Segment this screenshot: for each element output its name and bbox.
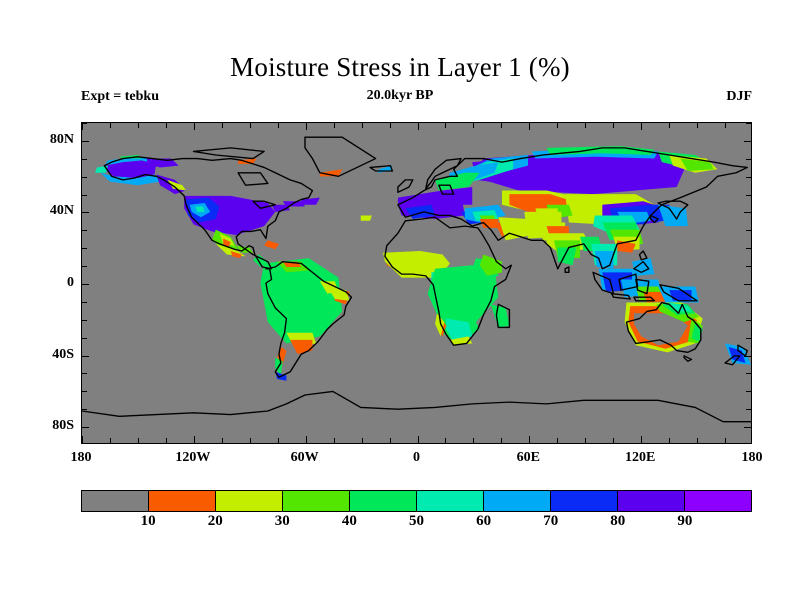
y-tick-right-60 bbox=[746, 177, 751, 178]
x-tick-top--60 bbox=[306, 123, 307, 130]
y-axis-label-40S: 40S bbox=[52, 347, 74, 363]
colorbar-segment-80-90[interactable] bbox=[618, 491, 685, 511]
x-axis-label-180: 180 bbox=[71, 450, 92, 466]
y-tick-90 bbox=[82, 123, 87, 124]
x-tick-top--135 bbox=[166, 123, 167, 128]
colorbar-segment-50-60[interactable] bbox=[417, 491, 484, 511]
y-tick--50 bbox=[82, 373, 87, 374]
x-tick-top-90 bbox=[585, 123, 586, 128]
y-axis-label-80S: 80S bbox=[52, 418, 74, 434]
x-tick-top--120 bbox=[194, 123, 195, 130]
y-tick-50 bbox=[82, 195, 87, 196]
x-tick-150 bbox=[697, 438, 698, 443]
y-tick--10 bbox=[82, 302, 87, 303]
y-tick--70 bbox=[82, 409, 87, 410]
colorbar-label-90: 90 bbox=[677, 513, 692, 530]
x-tick-75 bbox=[557, 438, 558, 443]
colorbar-tick-labels: 102030405060708090 bbox=[81, 513, 752, 535]
y-tick-right-50 bbox=[746, 195, 751, 196]
x-tick-top--75 bbox=[278, 123, 279, 128]
x-axis-label-120W: 120W bbox=[175, 450, 210, 466]
y-tick-right-30 bbox=[746, 230, 751, 231]
y-tick-0 bbox=[82, 284, 89, 285]
x-tick-top-30 bbox=[473, 123, 474, 128]
colorbar-segment-30-40[interactable] bbox=[283, 491, 350, 511]
x-tick-45 bbox=[501, 438, 502, 443]
x-tick-165 bbox=[725, 438, 726, 443]
y-tick-10 bbox=[82, 266, 87, 267]
field-canadian-arctic bbox=[238, 159, 257, 164]
x-tick-top--90 bbox=[250, 123, 251, 128]
y-tick-right-10 bbox=[746, 266, 751, 267]
x-axis-label-60W: 60W bbox=[291, 450, 319, 466]
x-tick-top-60 bbox=[529, 123, 530, 130]
y-tick-right--80 bbox=[744, 427, 751, 428]
x-axis-label-180: 180 bbox=[742, 450, 763, 466]
x-tick-105 bbox=[613, 438, 614, 443]
x-tick-top--45 bbox=[334, 123, 335, 128]
colorbar-label-80: 80 bbox=[610, 513, 625, 530]
field-cuba bbox=[264, 240, 279, 249]
y-tick-right-90 bbox=[746, 123, 751, 124]
x-tick-top--15 bbox=[390, 123, 391, 128]
colorbar-segment-90-100[interactable] bbox=[685, 491, 751, 511]
y-tick-right--20 bbox=[746, 320, 751, 321]
y-tick-right--70 bbox=[746, 409, 751, 410]
colorbar[interactable] bbox=[81, 490, 752, 512]
field-azores bbox=[361, 215, 372, 220]
x-tick--90 bbox=[250, 438, 251, 443]
colorbar-label-70: 70 bbox=[543, 513, 558, 530]
x-tick-60 bbox=[529, 436, 530, 443]
x-axis-label-0: 0 bbox=[413, 450, 420, 466]
map-plot-area bbox=[81, 122, 752, 444]
x-tick--120 bbox=[194, 436, 195, 443]
y-tick--80 bbox=[82, 427, 89, 428]
x-tick--165 bbox=[110, 438, 111, 443]
y-tick-60 bbox=[82, 177, 87, 178]
y-tick-30 bbox=[82, 230, 87, 231]
x-tick--105 bbox=[222, 438, 223, 443]
y-axis-label-40N: 40N bbox=[50, 203, 74, 219]
colorbar-segment-70-80[interactable] bbox=[551, 491, 618, 511]
field-pampas-orange bbox=[290, 340, 312, 354]
x-tick-30 bbox=[473, 438, 474, 443]
y-tick-right--30 bbox=[746, 338, 751, 339]
y-tick--20 bbox=[82, 320, 87, 321]
y-tick-right-80 bbox=[744, 141, 751, 142]
y-axis-label-80N: 80N bbox=[50, 132, 74, 148]
y-tick-right-0 bbox=[744, 284, 751, 285]
x-tick--45 bbox=[334, 438, 335, 443]
y-tick-right-70 bbox=[746, 159, 751, 160]
world-map bbox=[82, 123, 751, 443]
x-tick--15 bbox=[390, 438, 391, 443]
x-tick--150 bbox=[138, 438, 139, 443]
x-tick--180 bbox=[82, 436, 83, 443]
colorbar-segment-60-70[interactable] bbox=[484, 491, 551, 511]
y-tick-right--40 bbox=[744, 356, 751, 357]
y-tick--40 bbox=[82, 356, 89, 357]
colorbar-segment-20-30[interactable] bbox=[216, 491, 283, 511]
x-tick--75 bbox=[278, 438, 279, 443]
y-tick-right--60 bbox=[746, 391, 751, 392]
colorbar-label-40: 40 bbox=[342, 513, 357, 530]
colorbar-segment-0-10[interactable] bbox=[82, 491, 149, 511]
colorbar-segment-40-50[interactable] bbox=[350, 491, 417, 511]
colorbar-segment-10-20[interactable] bbox=[149, 491, 216, 511]
colorbar-label-20: 20 bbox=[208, 513, 223, 530]
colorbar-label-10: 10 bbox=[141, 513, 156, 530]
y-tick-70 bbox=[82, 159, 87, 160]
x-tick-135 bbox=[669, 438, 670, 443]
climate-map-figure: Moisture Stress in Layer 1 (%) 20.0kyr B… bbox=[0, 0, 800, 600]
x-tick-top-165 bbox=[725, 123, 726, 128]
x-tick-90 bbox=[585, 438, 586, 443]
x-tick-top-120 bbox=[641, 123, 642, 130]
y-tick-right--10 bbox=[746, 302, 751, 303]
x-tick-top-15 bbox=[445, 123, 446, 128]
x-tick-top--180 bbox=[82, 123, 83, 130]
x-tick-top-0 bbox=[418, 123, 419, 130]
x-tick-0 bbox=[418, 436, 419, 443]
x-tick--30 bbox=[362, 438, 363, 443]
y-tick-right--50 bbox=[746, 373, 751, 374]
x-tick-top-45 bbox=[501, 123, 502, 128]
y-tick-right-40 bbox=[744, 212, 751, 213]
x-tick--135 bbox=[166, 438, 167, 443]
x-tick-top--150 bbox=[138, 123, 139, 128]
x-tick-top--105 bbox=[222, 123, 223, 128]
colorbar-label-60: 60 bbox=[476, 513, 491, 530]
y-tick-80 bbox=[82, 141, 89, 142]
page-title: Moisture Stress in Layer 1 (%) bbox=[0, 52, 800, 83]
y-axis-label-0: 0 bbox=[67, 275, 74, 291]
y-tick--30 bbox=[82, 338, 87, 339]
field-japan bbox=[658, 205, 688, 226]
moisture-stress-field bbox=[95, 146, 751, 381]
y-tick-right-20 bbox=[746, 248, 751, 249]
y-tick-40 bbox=[82, 212, 89, 213]
season-label: DJF bbox=[726, 89, 752, 105]
y-tick--60 bbox=[82, 391, 87, 392]
x-tick--60 bbox=[306, 436, 307, 443]
field-mekong bbox=[595, 251, 614, 269]
x-tick-top--30 bbox=[362, 123, 363, 128]
x-axis-label-120E: 120E bbox=[625, 450, 655, 466]
x-tick-120 bbox=[641, 436, 642, 443]
x-tick-top-150 bbox=[697, 123, 698, 128]
x-tick-top--165 bbox=[110, 123, 111, 128]
x-tick-top-105 bbox=[613, 123, 614, 128]
x-tick-top-135 bbox=[669, 123, 670, 128]
colorbar-label-30: 30 bbox=[275, 513, 290, 530]
field-europe bbox=[398, 187, 472, 205]
x-axis-label-60E: 60E bbox=[517, 450, 540, 466]
y-tick-20 bbox=[82, 248, 87, 249]
colorbar-label-50: 50 bbox=[409, 513, 424, 530]
x-tick-top-75 bbox=[557, 123, 558, 128]
experiment-label: Expt = tebku bbox=[81, 89, 159, 105]
x-tick-15 bbox=[445, 438, 446, 443]
